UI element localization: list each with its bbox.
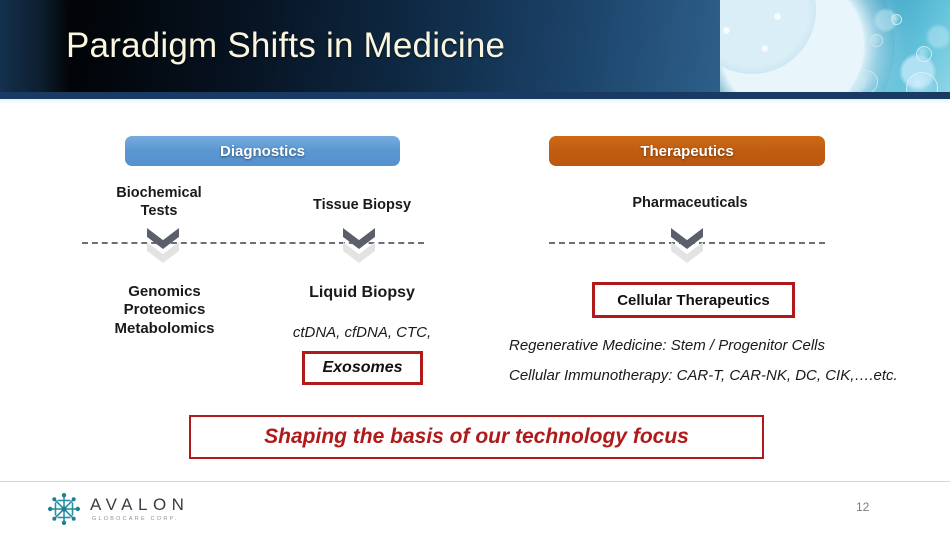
header-rule-navy — [0, 92, 950, 99]
brand-logo: AVALON GLOBOCARE CORP. — [47, 492, 189, 526]
page-title: Paradigm Shifts in Medicine — [66, 26, 505, 66]
header-arc-cell-core — [720, 0, 816, 74]
highlight-box-cellular-therapeutics: Cellular Therapeutics — [592, 282, 795, 318]
chevron-down-icon — [343, 228, 375, 268]
brand-tagline: GLOBOCARE CORP. — [92, 517, 189, 522]
label-omics-list: Genomics Proteomics Metabolomics — [82, 283, 247, 338]
label-cellular-immunotherapy: Cellular Immunotherapy: CAR-T, CAR-NK, D… — [509, 367, 898, 384]
footer-divider — [0, 481, 950, 482]
label-tissue-biopsy: Tissue Biopsy — [292, 197, 432, 215]
chevron-down-icon — [147, 228, 179, 268]
label-liquid-biopsy-detail: ctDNA, cfDNA, CTC, — [272, 324, 452, 341]
diagnostics-heading-pill: Diagnostics — [125, 136, 400, 166]
brand-wordmark: AVALON GLOBOCARE CORP. — [90, 496, 189, 522]
label-liquid-biopsy: Liquid Biopsy — [287, 283, 437, 303]
header-left-fade — [0, 0, 70, 92]
therapeutics-heading-pill: Therapeutics — [549, 136, 825, 166]
chevron-down-icon — [671, 228, 703, 268]
molecule-snowflake-icon — [47, 492, 81, 526]
brand-name: AVALON — [90, 496, 189, 513]
label-biochemical-tests: Biochemical Tests — [84, 185, 234, 220]
header-rule-light — [0, 99, 950, 104]
label-regenerative-medicine: Regenerative Medicine: Stem / Progenitor… — [509, 337, 825, 354]
tagline-text: Shaping the basis of our technology focu… — [264, 425, 689, 449]
cell-bubble-icon — [916, 46, 932, 62]
slide-header-banner: Paradigm Shifts in Medicine — [0, 0, 950, 92]
label-pharmaceuticals: Pharmaceuticals — [605, 195, 775, 213]
tagline-box: Shaping the basis of our technology focu… — [189, 415, 764, 459]
highlight-box-exosomes: Exosomes — [302, 351, 423, 385]
header-arc-highlight — [720, 0, 895, 92]
page-number: 12 — [856, 500, 869, 514]
header-cell-photo — [720, 0, 950, 92]
slide-canvas: Paradigm Shifts in Medicine Diagnostics … — [0, 0, 950, 534]
